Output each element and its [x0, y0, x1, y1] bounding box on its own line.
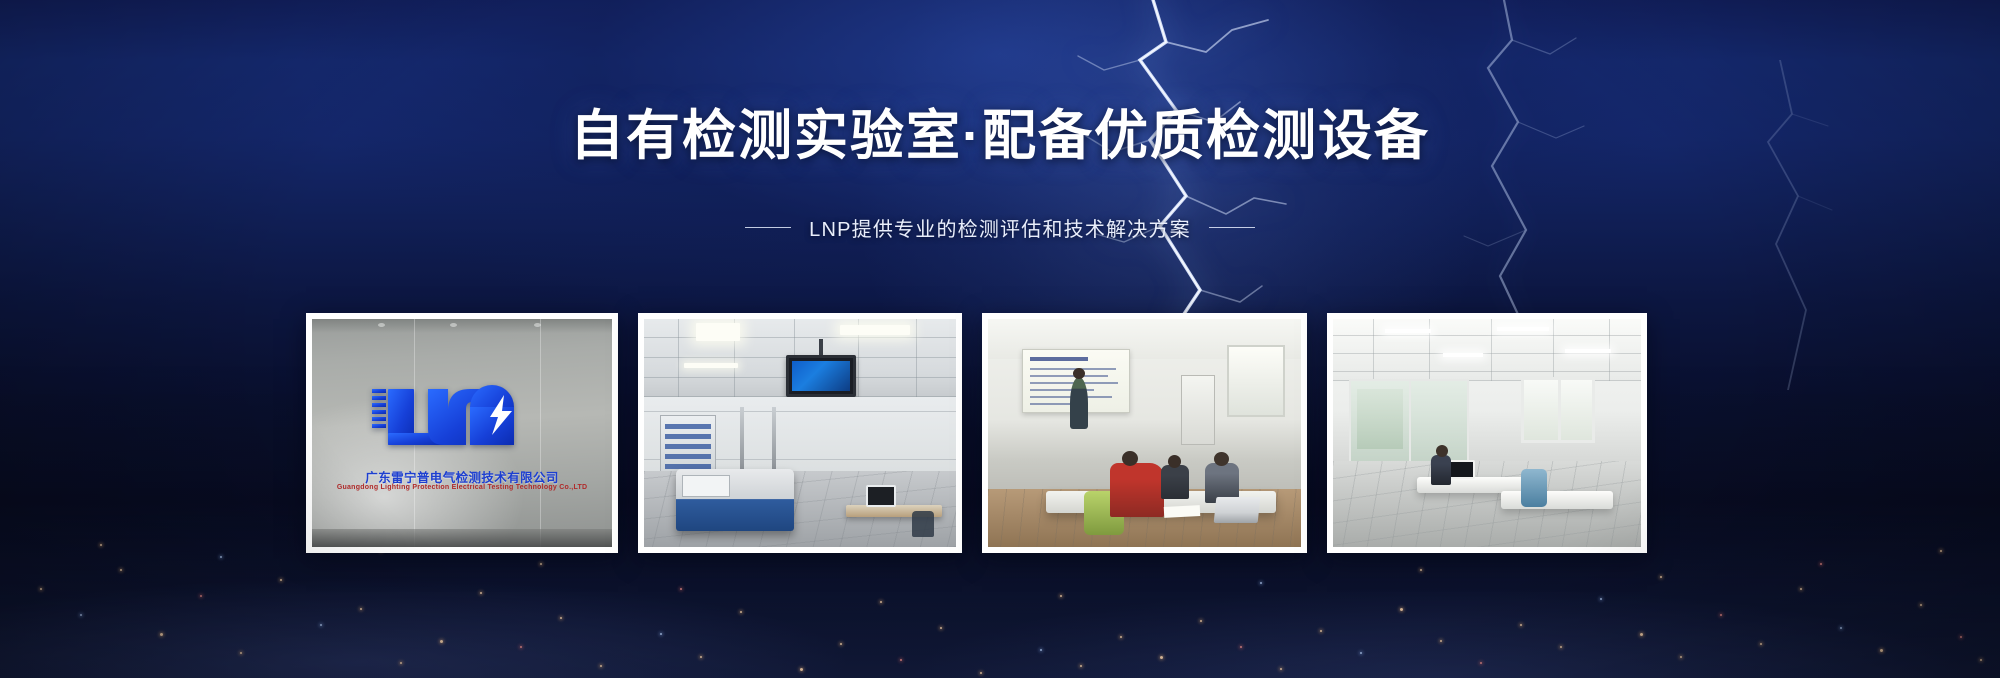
- office-chair: [912, 511, 934, 537]
- cabinet: [1181, 375, 1215, 445]
- office-chair: [1521, 469, 1547, 507]
- photo-testing-laboratory: [644, 319, 956, 547]
- photo-company-logo-wall: 广东雷宁普电气检测技术有限公司 Guangdong Lighting Prote…: [312, 319, 612, 547]
- gallery-item-testing-laboratory[interactable]: [638, 313, 962, 553]
- gallery-item-meeting-room[interactable]: [982, 313, 1307, 553]
- subtitle-row: LNP提供专业的检测评估和技术解决方案: [0, 213, 2000, 242]
- equipment-rack: [660, 415, 716, 477]
- glass-partition: [1349, 379, 1469, 473]
- test-console: [676, 469, 794, 531]
- person-presenting: [1070, 377, 1088, 429]
- left-divider: [745, 227, 791, 228]
- desktop-monitor: [866, 485, 896, 507]
- window: [1521, 377, 1595, 443]
- window: [1227, 345, 1285, 417]
- reception-desk: [1501, 491, 1613, 509]
- person-seated-front: [1110, 463, 1164, 517]
- subtitle-text: LNP提供专业的检测评估和技术解决方案: [809, 213, 1191, 242]
- right-divider: [1209, 227, 1255, 228]
- photo-meeting-room: [988, 319, 1301, 547]
- photo-gallery: 广东雷宁普电气检测技术有限公司 Guangdong Lighting Prote…: [306, 313, 1647, 553]
- person-seated-middle: [1161, 465, 1189, 499]
- hero-banner: 自有检测实验室·配备优质检测设备 LNP提供专业的检测评估和技术解决方案: [0, 0, 2000, 678]
- company-name-en: Guangdong Lighting Protection Electrical…: [337, 484, 587, 491]
- person-at-desk: [1431, 455, 1451, 485]
- paper-documents: [1164, 505, 1201, 518]
- laptop: [1214, 497, 1261, 523]
- wall-monitor: [786, 355, 856, 397]
- desktop-monitor: [1449, 460, 1475, 479]
- page-title: 自有检测实验室·配备优质检测设备: [0, 105, 2000, 169]
- lnp-logo-icon: [366, 373, 558, 457]
- photo-open-office: [1333, 319, 1641, 547]
- gallery-item-company-logo-wall[interactable]: 广东雷宁普电气检测技术有限公司 Guangdong Lighting Prote…: [306, 313, 618, 553]
- gallery-item-open-office[interactable]: [1327, 313, 1647, 553]
